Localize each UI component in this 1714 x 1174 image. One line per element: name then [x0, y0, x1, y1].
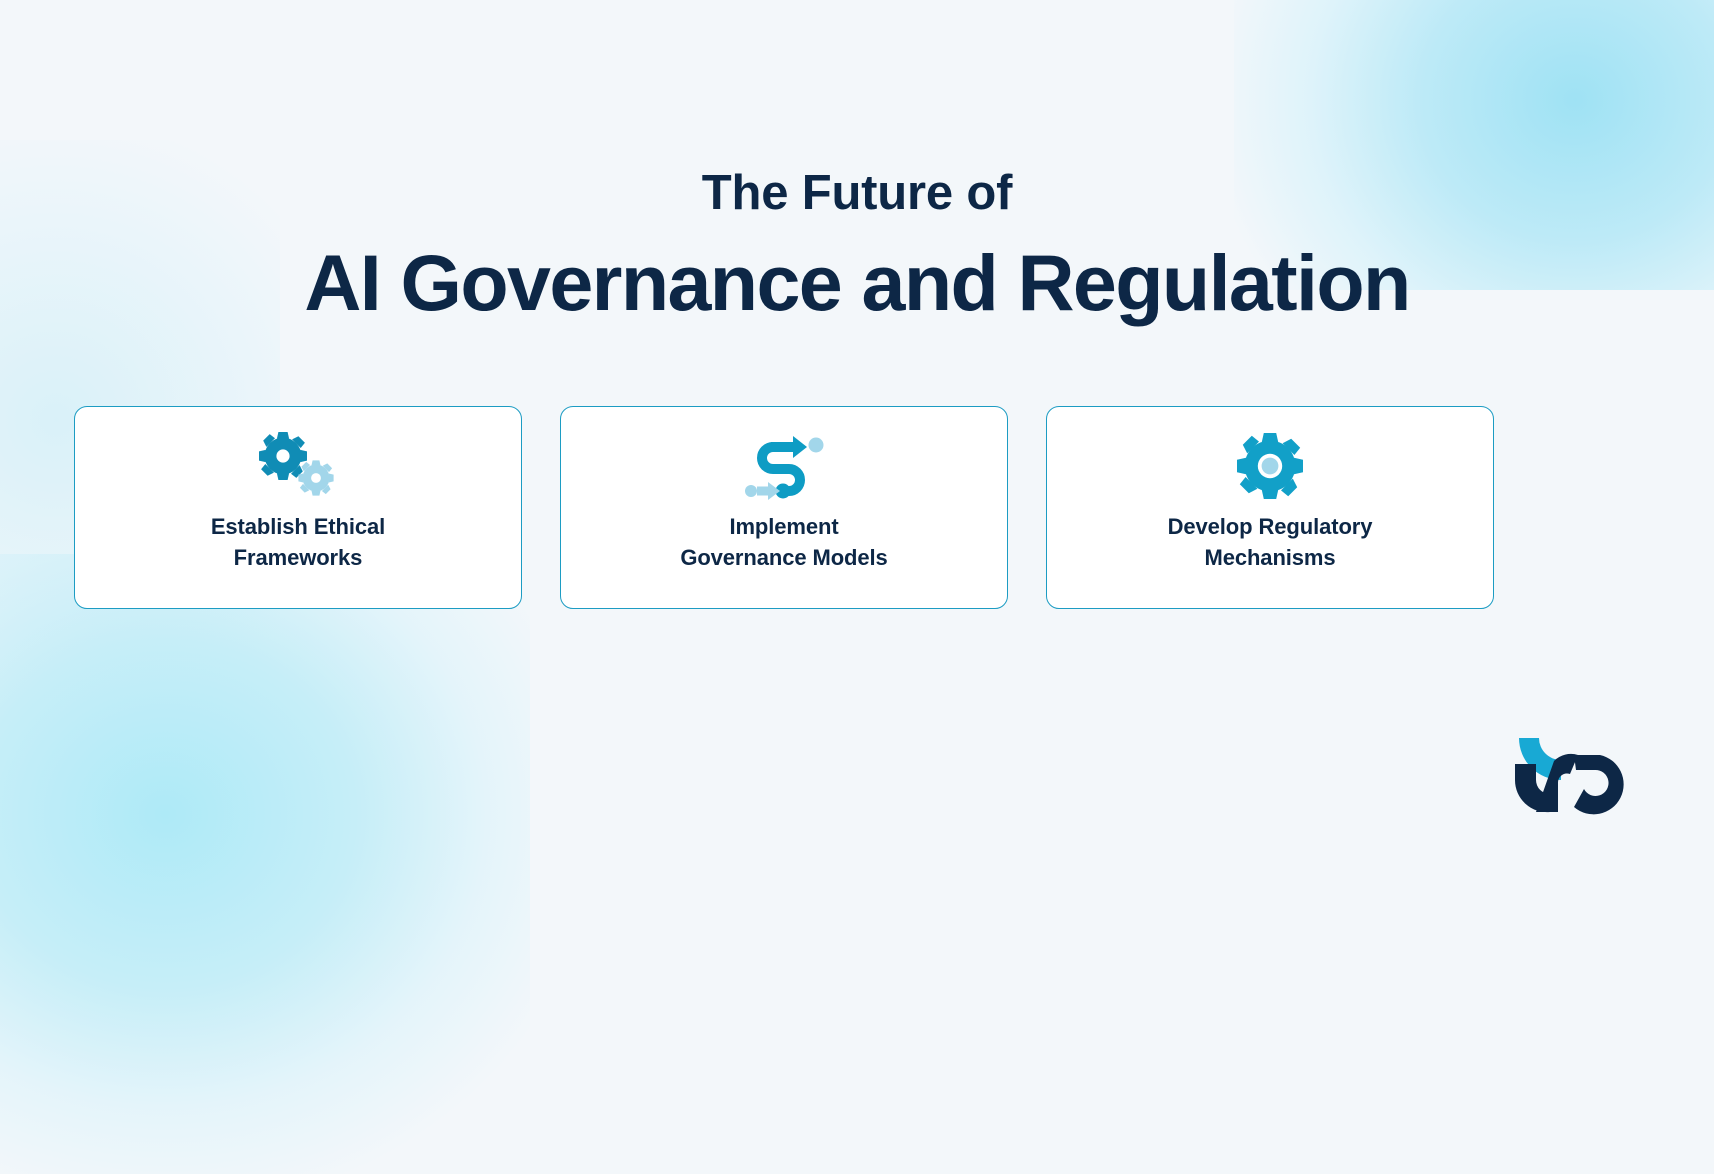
- winding-path-arrows-icon: [743, 430, 825, 502]
- gear-icon: [1233, 430, 1307, 502]
- card-label-line-1: Implement: [680, 511, 887, 542]
- page-title: AI Governance and Regulation: [0, 240, 1714, 325]
- slide-canvas: The Future of AI Governance and Regulati…: [0, 0, 1714, 924]
- card-label: Establish Ethical Frameworks: [211, 511, 385, 573]
- card-label: Implement Governance Models: [680, 511, 887, 573]
- card-label: Develop Regulatory Mechanisms: [1168, 511, 1373, 573]
- tn-brand-logo: [1512, 734, 1652, 816]
- page-title-eyebrow: The Future of: [0, 168, 1714, 219]
- card-label-line-2: Mechanisms: [1168, 542, 1373, 573]
- card-label-line-1: Develop Regulatory: [1168, 511, 1373, 542]
- card-label-line-1: Establish Ethical: [211, 511, 385, 542]
- card-establish-ethical-frameworks[interactable]: Establish Ethical Frameworks: [74, 406, 522, 609]
- background-glow-bottom-left: [0, 554, 530, 1174]
- card-label-line-2: Governance Models: [680, 542, 887, 573]
- cards-row: Establish Ethical Frameworks: [74, 406, 1494, 609]
- card-label-line-2: Frameworks: [211, 542, 385, 573]
- card-implement-governance-models[interactable]: Implement Governance Models: [560, 406, 1008, 609]
- card-develop-regulatory-mechanisms[interactable]: Develop Regulatory Mechanisms: [1046, 406, 1494, 609]
- logo-letter-n-bowl: [1574, 755, 1624, 814]
- dual-gears-icon: [256, 430, 340, 502]
